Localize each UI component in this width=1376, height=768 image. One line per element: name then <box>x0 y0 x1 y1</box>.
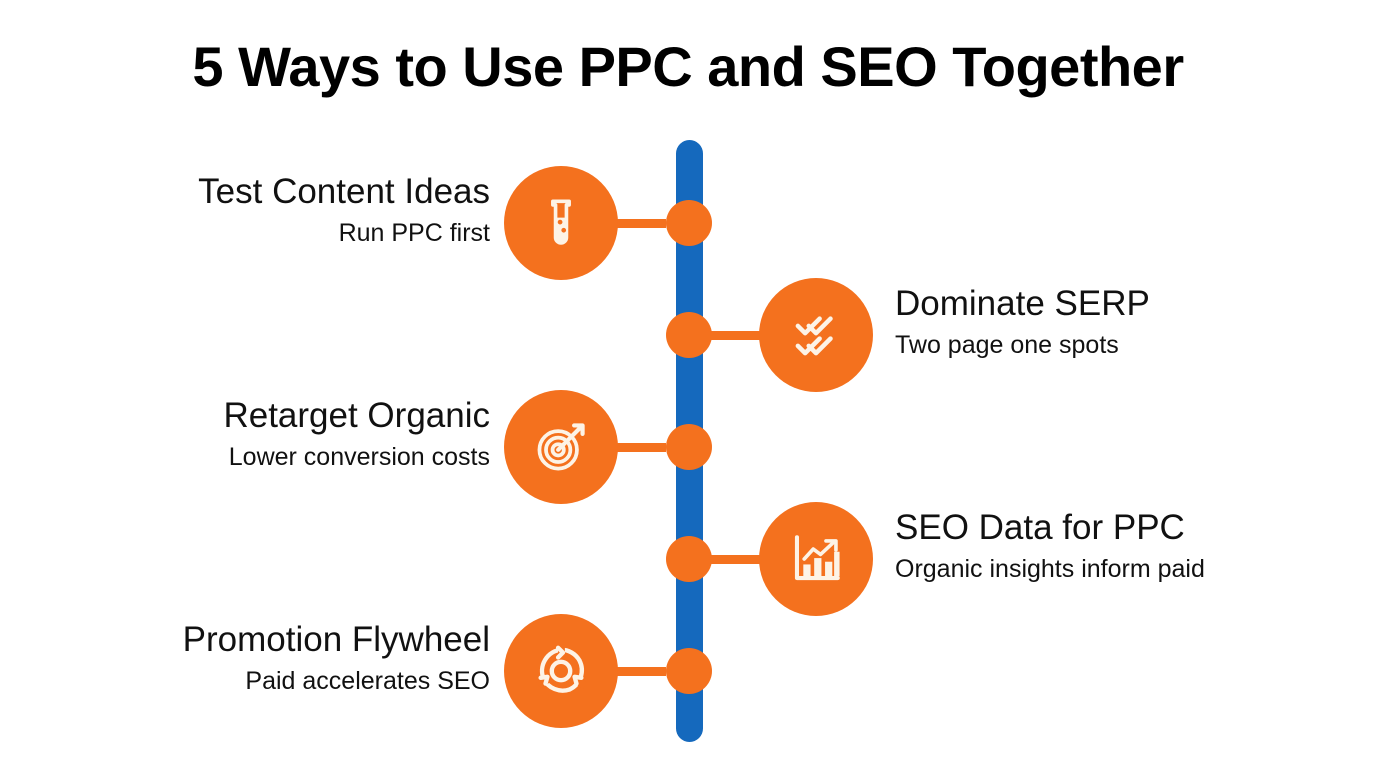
timeline-node-dot[interactable] <box>666 200 712 246</box>
item-heading: Test Content Ideas <box>198 171 490 212</box>
timeline-node-dot[interactable] <box>666 312 712 358</box>
item-text-block: SEO Data for PPC Organic insights inform… <box>895 507 1205 584</box>
item-text-block: Retarget Organic Lower conversion costs <box>223 395 490 472</box>
item-subtext: Two page one spots <box>895 330 1150 360</box>
bar-chart-growth-icon <box>787 530 845 588</box>
infographic-canvas: 5 Ways to Use PPC and SEO Together Test … <box>0 0 1376 768</box>
item-heading: SEO Data for PPC <box>895 507 1205 548</box>
page-title: 5 Ways to Use PPC and SEO Together <box>0 36 1376 98</box>
item-text-block: Dominate SERP Two page one spots <box>895 283 1150 360</box>
item-subtext: Organic insights inform paid <box>895 554 1205 584</box>
timeline-node-dot[interactable] <box>666 648 712 694</box>
icon-bubble[interactable] <box>504 166 618 280</box>
double-check-icon <box>787 306 845 364</box>
test-tube-icon <box>532 194 590 252</box>
item-heading: Retarget Organic <box>223 395 490 436</box>
timeline-node-dot[interactable] <box>666 536 712 582</box>
item-heading: Dominate SERP <box>895 283 1150 324</box>
item-text-block: Test Content Ideas Run PPC first <box>198 171 490 248</box>
item-text-block: Promotion Flywheel Paid accelerates SEO <box>183 619 490 696</box>
item-subtext: Lower conversion costs <box>223 442 490 472</box>
item-subtext: Paid accelerates SEO <box>183 666 490 696</box>
item-heading: Promotion Flywheel <box>183 619 490 660</box>
item-subtext: Run PPC first <box>198 218 490 248</box>
icon-bubble[interactable] <box>504 614 618 728</box>
icon-bubble[interactable] <box>759 502 873 616</box>
target-dart-icon <box>531 417 591 477</box>
flywheel-cycle-icon <box>530 640 592 702</box>
icon-bubble[interactable] <box>759 278 873 392</box>
timeline-node-dot[interactable] <box>666 424 712 470</box>
icon-bubble[interactable] <box>504 390 618 504</box>
